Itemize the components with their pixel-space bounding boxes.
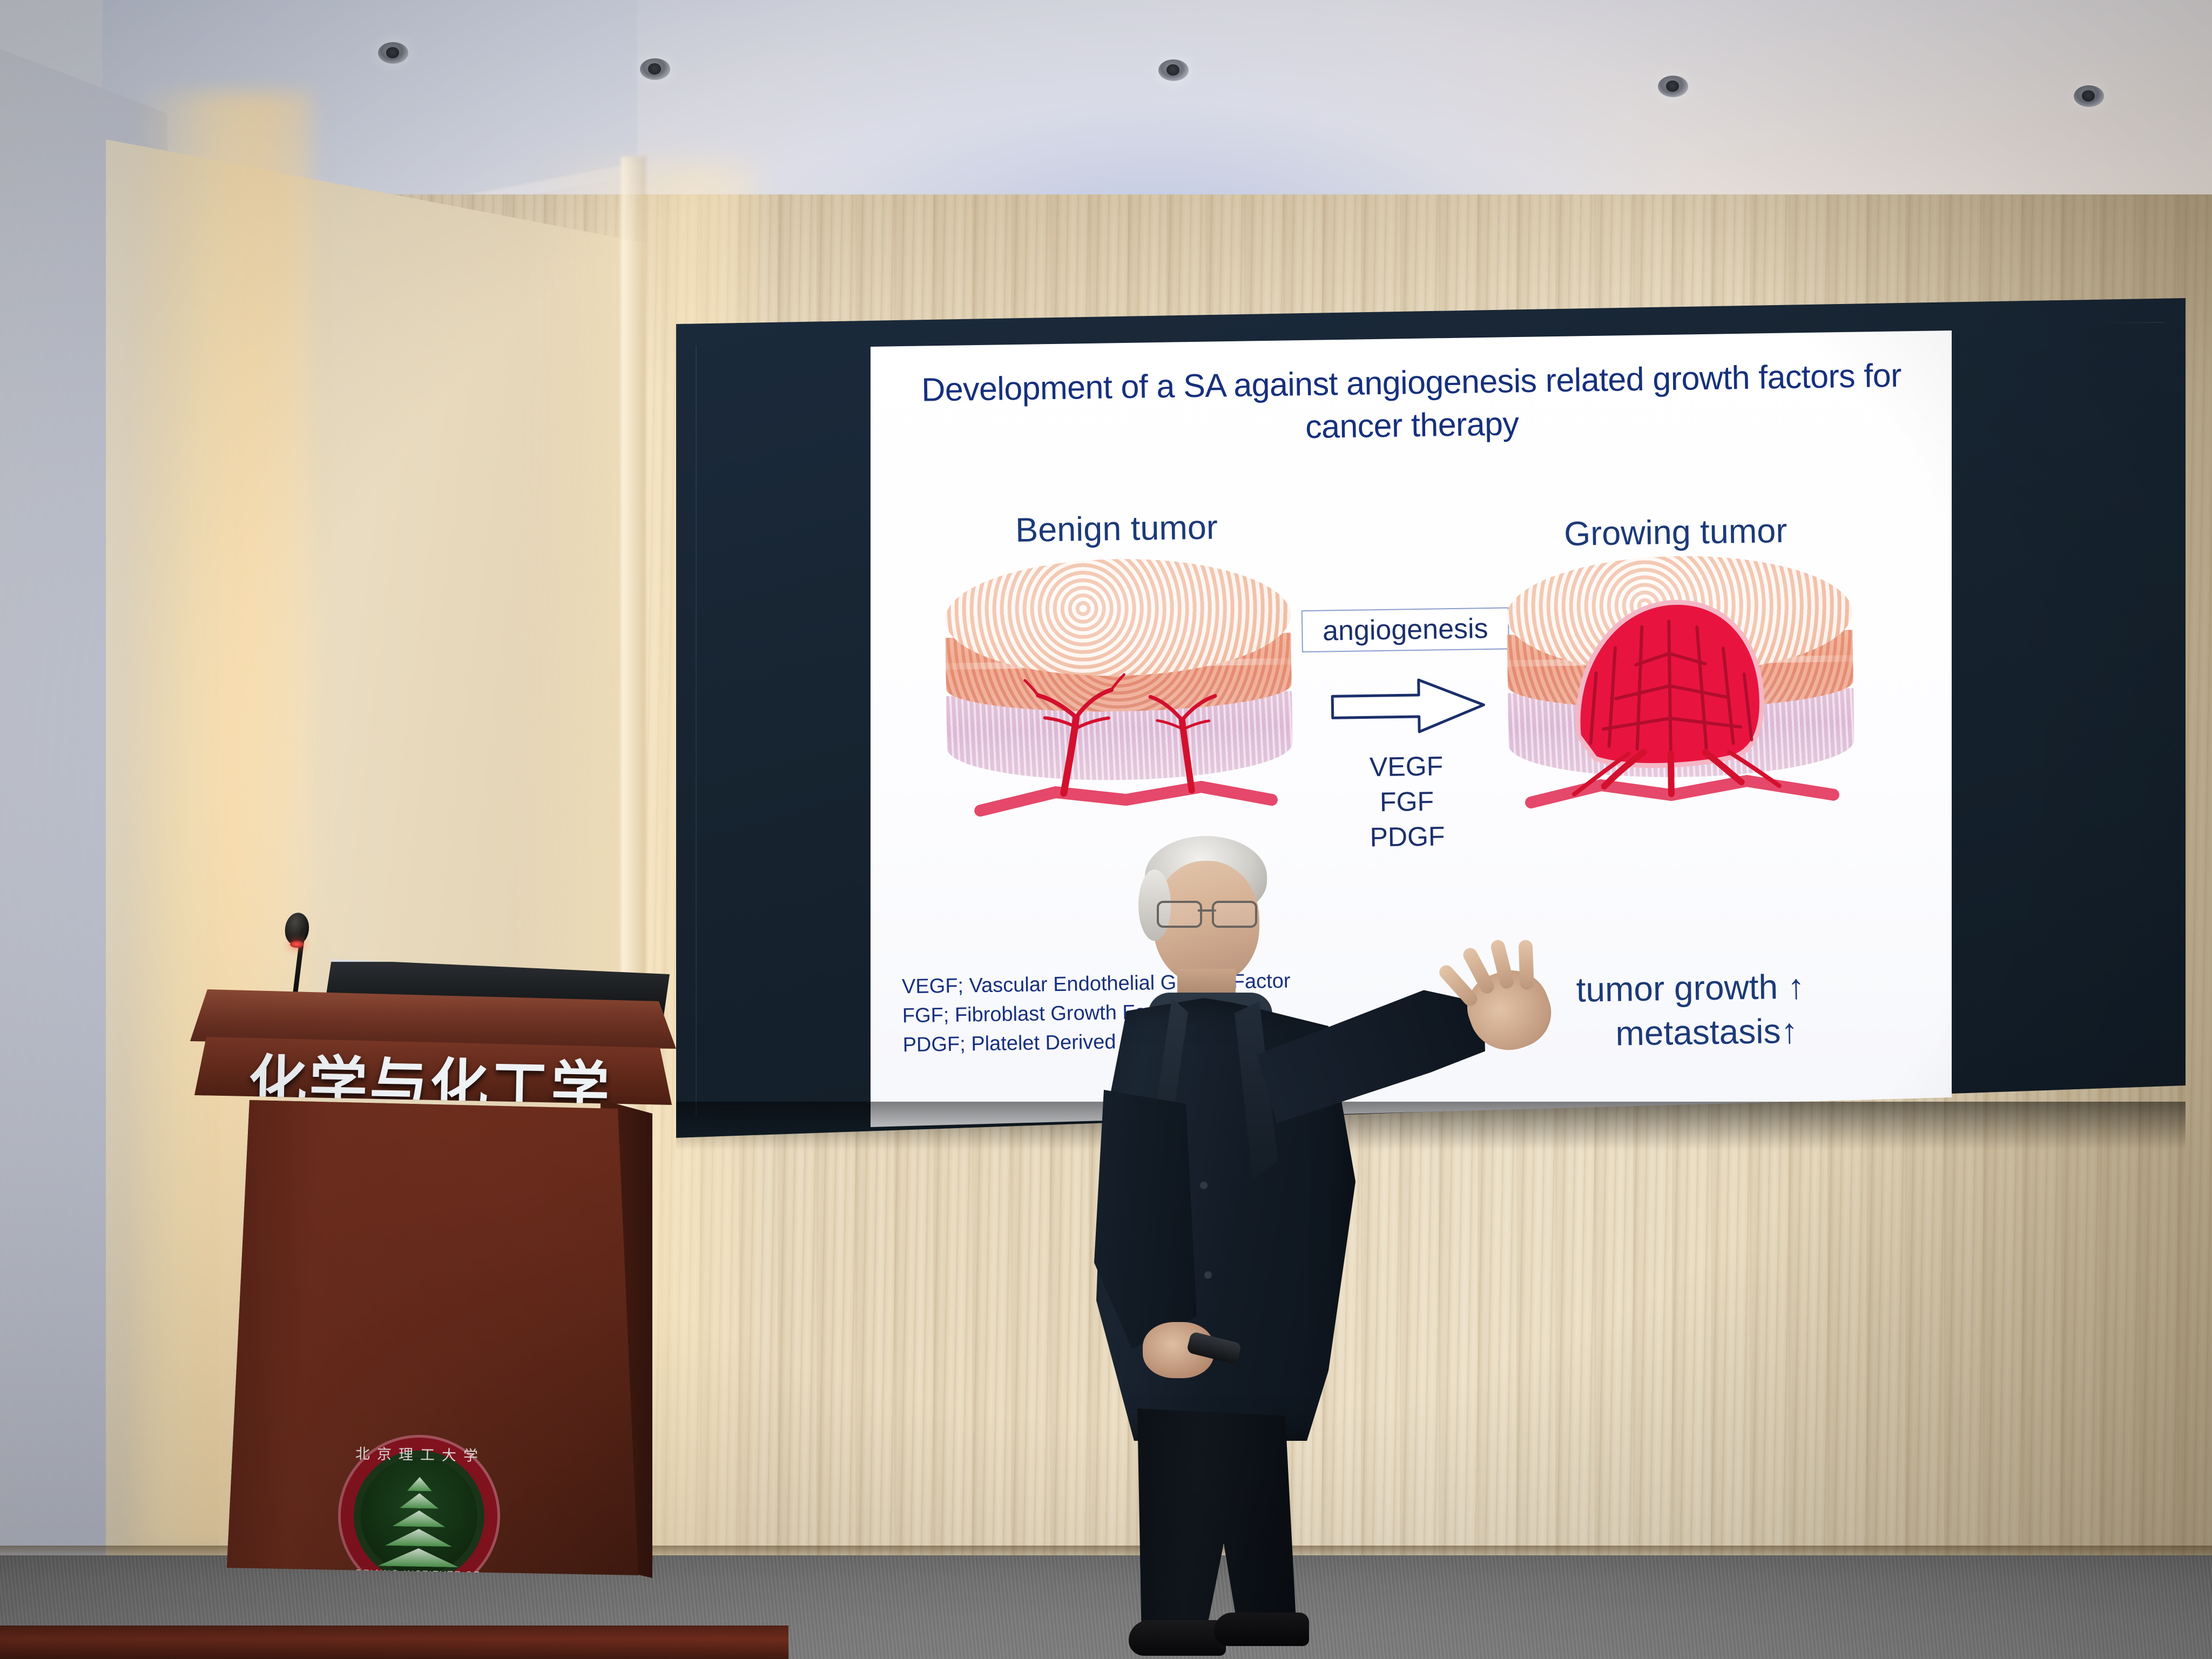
angiogenesis-arrow-icon [1327,672,1490,739]
angiogenesis-label: angiogenesis [1323,615,1488,645]
lectern: 化学与化工学院 北京理工大学 BEIJING INSTITUTE OF TECH… [190,989,676,1659]
ceiling-downlight-icon [1158,59,1189,81]
benign-tumor-illustration [944,557,1293,815]
presenter [1042,836,1377,1659]
growth-factor-vegf: VEGF [1304,748,1509,786]
emblem-english-text: BEIJING INSTITUTE OF TECHNOLOGY [337,1567,500,1591]
jacket-button [1200,1182,1208,1189]
presenter-shoe-left [1129,1620,1226,1656]
ceiling-downlight-icon [640,58,670,80]
growth-factor-fgf: FGF [1304,783,1510,821]
emblem-chinese-text: 北京理工大学 [339,1441,502,1465]
presenter-legs [1123,1408,1301,1642]
angiogenesis-label-box: angiogenesis [1301,608,1509,653]
benign-tumor-heading: Benign tumor [943,507,1290,551]
ceiling-downlight-icon [1658,76,1688,97]
university-emblem: 北京理工大学 BEIJING INSTITUTE OF TECHNOLOGY [336,1433,501,1598]
pine-tree-icon [377,1476,460,1570]
ceiling-downlight-icon [2074,85,2104,107]
growing-tumor-illustration [1506,554,1855,812]
lectern-front-panel: 北京理工大学 BEIJING INSTITUTE OF TECHNOLOGY [227,1100,638,1575]
lecture-hall-photo: Development of a SA against angiogenesis… [0,0,2212,1659]
eyeglasses-icon [1157,901,1257,925]
slide-title: Development of a SA against angiogenesis… [882,354,1941,455]
growing-tumor-heading: Growing tumor [1502,510,1849,554]
jacket-button [1204,1271,1212,1279]
screen-bottom-shadow [676,1102,2186,1150]
ceiling-downlight-icon [378,42,408,64]
lectern-nameplate-band: 化学与化工学院 [194,1037,672,1105]
microphone-status-led [290,941,304,948]
presenter-shoe-right [1214,1613,1309,1646]
